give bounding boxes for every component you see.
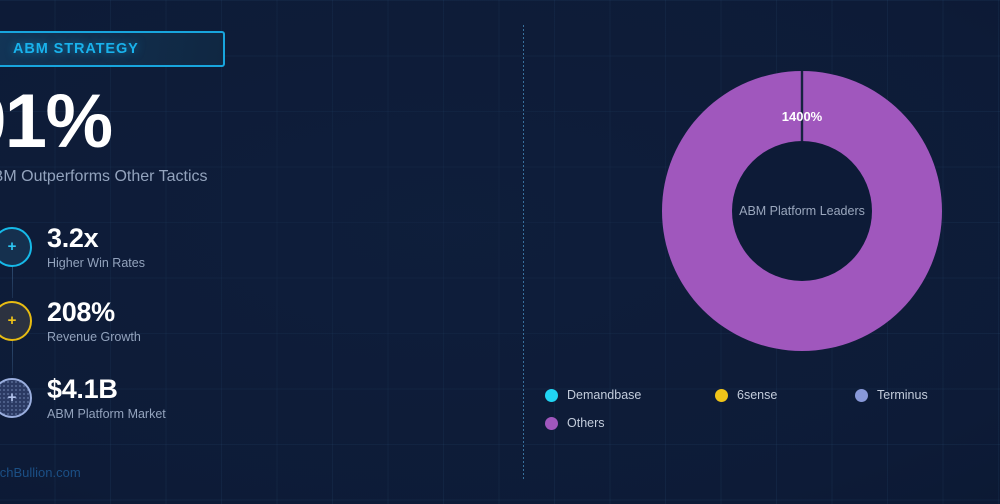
chart-legend: Demandbase 6sense Terminus Others: [545, 388, 995, 430]
legend-row: Demandbase 6sense Terminus: [545, 388, 995, 402]
stat-row: + $4.1B ABM Platform Market: [0, 375, 166, 421]
legend-item-others[interactable]: Others: [545, 416, 715, 430]
hero-stat-value: 91%: [0, 84, 112, 160]
strategy-badge: ABM STRATEGY: [0, 31, 225, 67]
legend-label: Demandbase: [567, 388, 641, 402]
chart-panel: ABM Platform Leaders 1400% Demandbase 6s…: [523, 0, 1000, 504]
stat-connector-line: [12, 264, 13, 298]
strategy-badge-label: ABM STRATEGY: [13, 41, 139, 57]
stat-value: 208%: [47, 298, 141, 327]
legend-color-dot: [715, 389, 728, 402]
legend-row: Others: [545, 416, 995, 430]
legend-label: Terminus: [877, 388, 928, 402]
stat-connector-line: [12, 338, 13, 375]
plus-icon: +: [0, 378, 32, 418]
stat-label: Higher Win Rates: [47, 256, 145, 270]
legend-item-demandbase[interactable]: Demandbase: [545, 388, 715, 402]
stat-row: + 208% Revenue Growth: [0, 298, 141, 344]
stat-row: + 3.2x Higher Win Rates: [0, 224, 145, 270]
donut-chart: ABM Platform Leaders 1400%: [662, 71, 942, 351]
legend-color-dot: [545, 389, 558, 402]
hero-stat-label: ABM Outperforms Other Tactics: [0, 168, 208, 186]
plus-icon: +: [0, 301, 32, 341]
legend-item-6sense[interactable]: 6sense: [715, 388, 855, 402]
donut-hole: [732, 141, 872, 281]
donut-chart-svg: [662, 71, 942, 351]
legend-item-terminus[interactable]: Terminus: [855, 388, 995, 402]
stat-label: ABM Platform Market: [47, 407, 166, 421]
plus-icon: +: [0, 227, 32, 267]
stat-value: $4.1B: [47, 375, 166, 404]
legend-label: Others: [567, 416, 605, 430]
stat-value: 3.2x: [47, 224, 145, 253]
legend-label: 6sense: [737, 388, 777, 402]
legend-color-dot: [545, 417, 558, 430]
stats-panel: ABM STRATEGY 91% ABM Outperforms Other T…: [0, 0, 523, 504]
stat-label: Revenue Growth: [47, 330, 141, 344]
legend-color-dot: [855, 389, 868, 402]
watermark: TechBullion.com: [0, 465, 81, 480]
